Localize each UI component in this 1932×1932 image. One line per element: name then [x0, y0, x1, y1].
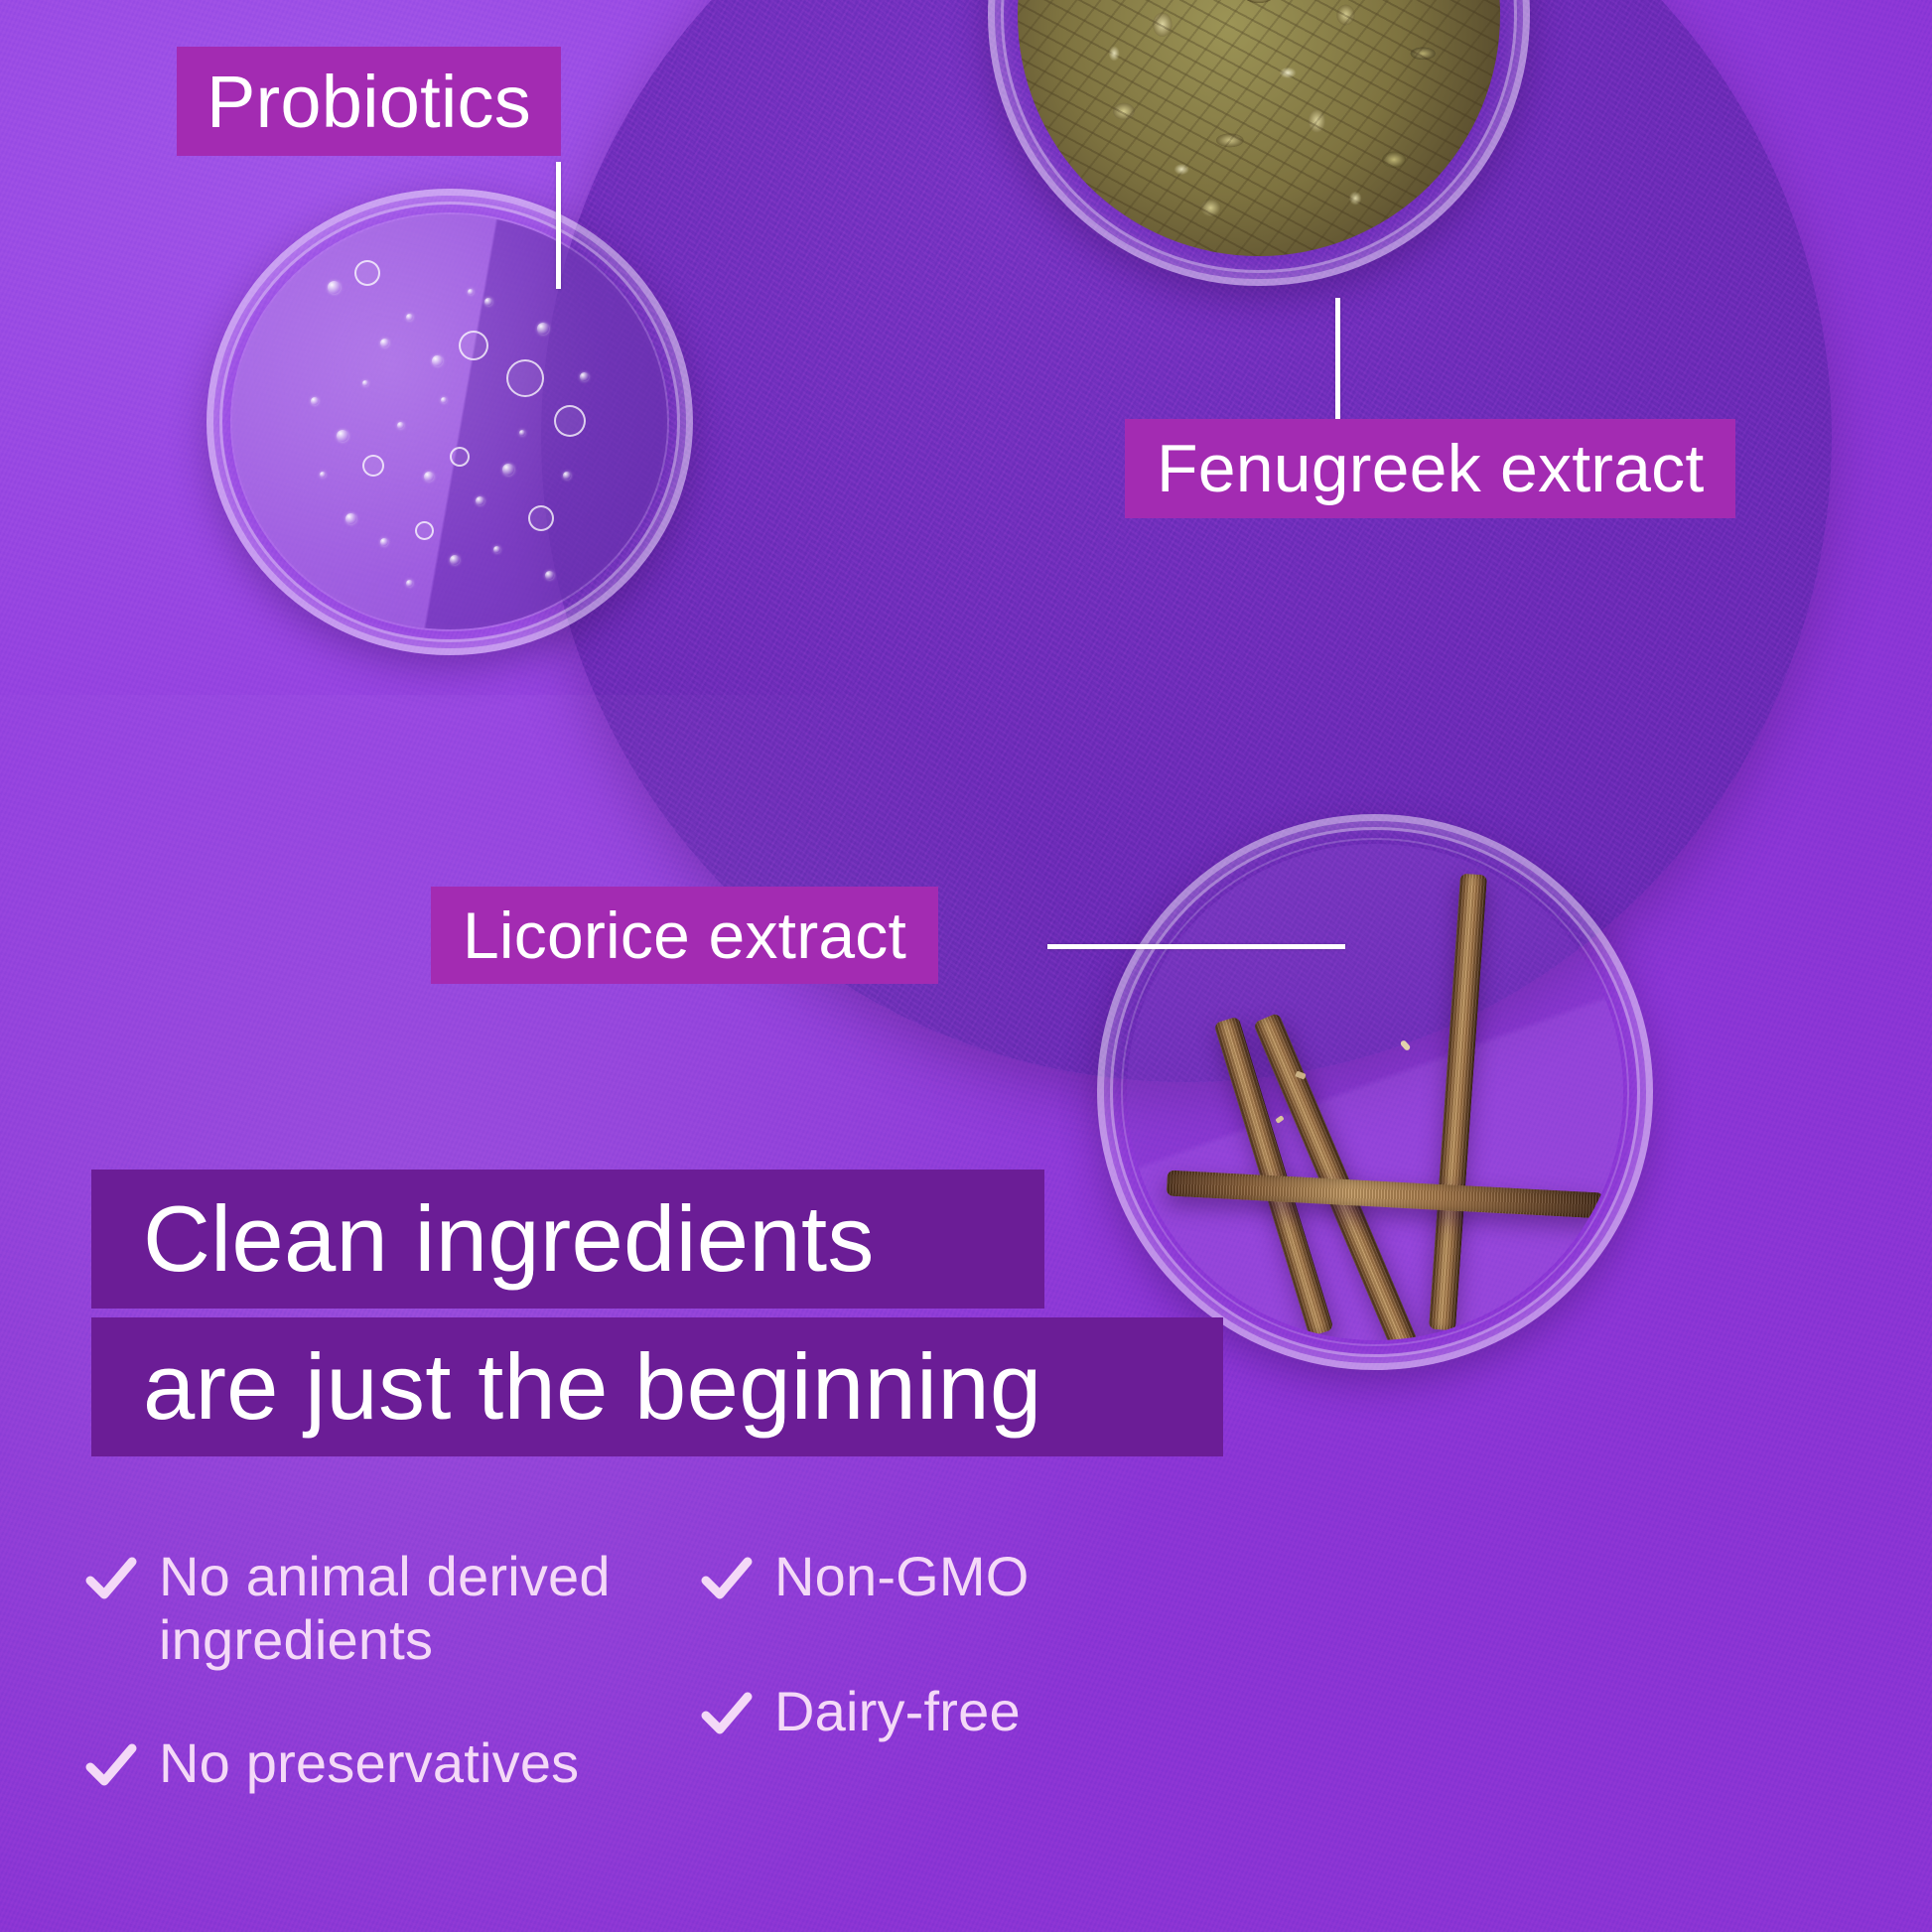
- check-icon: [85, 1739, 137, 1791]
- headline-line-2: are just the beginning: [91, 1317, 1223, 1456]
- callout-tag-probiotics[interactable]: Probiotics: [177, 47, 561, 156]
- claim-item: Non-GMO: [701, 1545, 1297, 1608]
- check-icon: [701, 1553, 753, 1604]
- check-icon: [85, 1553, 137, 1604]
- claim-item: No animal derived ingredients: [85, 1545, 780, 1672]
- claim-label: Dairy-free: [774, 1680, 1021, 1743]
- headline-line-1: Clean ingredients: [91, 1170, 1044, 1309]
- callout-label: Probiotics: [207, 60, 531, 144]
- probiotics-leader-line-icon: [556, 162, 561, 289]
- claims-column-left: No animal derived ingredients No preserv…: [85, 1545, 780, 1834]
- callout-label: Fenugreek extract: [1157, 430, 1704, 507]
- claim-label: No animal derived ingredients: [159, 1545, 780, 1672]
- fenugreek-glass-bowl: [988, 0, 1530, 286]
- fenugreek-leader-line-icon: [1335, 298, 1340, 427]
- claim-item: No preservatives: [85, 1731, 780, 1795]
- licorice-leader-line-icon: [1047, 944, 1345, 949]
- petri-dish-rim-inner2: [230, 212, 669, 631]
- licorice-petri-dish: [1097, 814, 1653, 1370]
- probiotics-petri-dish: [207, 189, 693, 655]
- headline-line-2-text: are just the beginning: [143, 1333, 1041, 1441]
- claim-label: No preservatives: [159, 1731, 579, 1795]
- product-ingredients-infographic: Probiotics Fenugreek extract Licorice ex…: [0, 0, 1932, 1932]
- claim-label: Non-GMO: [774, 1545, 1030, 1608]
- callout-tag-fenugreek[interactable]: Fenugreek extract: [1125, 419, 1735, 518]
- claim-item: Dairy-free: [701, 1680, 1297, 1743]
- licorice-dish-rim-inner2: [1121, 838, 1629, 1346]
- callout-tag-licorice[interactable]: Licorice extract: [431, 887, 938, 984]
- claims-column-right: Non-GMO Dairy-free: [701, 1545, 1297, 1783]
- callout-label: Licorice extract: [463, 897, 906, 973]
- check-icon: [701, 1688, 753, 1739]
- headline-line-1-text: Clean ingredients: [143, 1185, 875, 1293]
